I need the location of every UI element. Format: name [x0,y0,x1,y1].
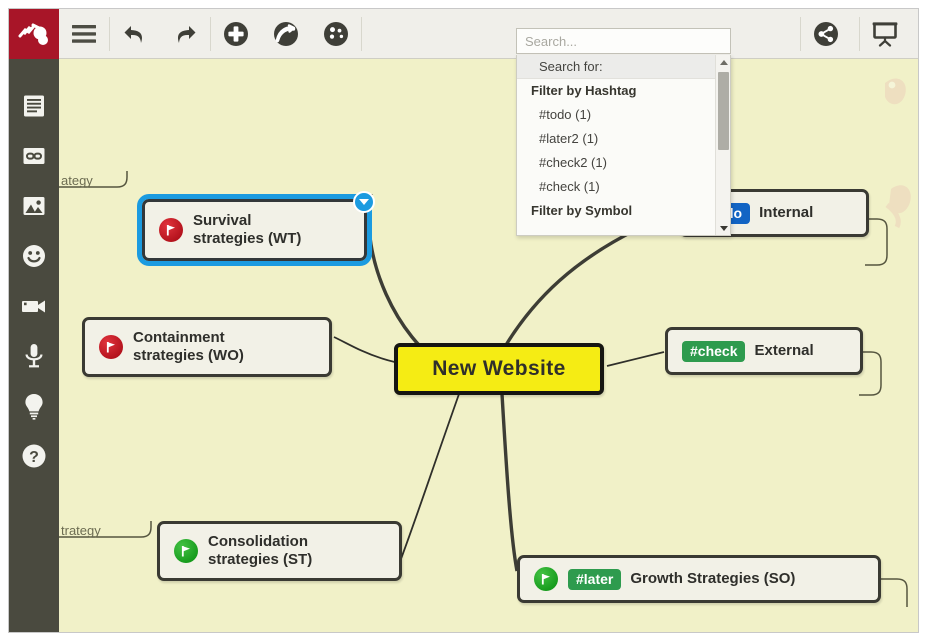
center-node-label: New Website [432,356,566,382]
collapse-toggle[interactable] [353,191,375,213]
green-flag-icon [534,567,558,591]
node-consolidation[interactable]: Consolidationstrategies (ST) [157,521,402,581]
scrollbar-thumb[interactable] [718,72,729,150]
search-dropdown: Search for: Filter by Hashtag #todo (1) … [516,55,731,236]
sidebar-item-link[interactable] [9,131,59,181]
palette-icon [323,21,349,47]
dropdown-scrollbar[interactable] [715,55,730,236]
green-flag-icon [174,539,198,563]
app-root: ? ategy trategy [0,0,927,641]
application-frame: ? ategy trategy [8,8,919,633]
node-internal-label: Internal [759,204,813,222]
palette-button[interactable] [311,9,361,59]
node-containment-label: Containmentstrategies (WO) [133,329,244,366]
svg-text:trategy: trategy [61,523,101,538]
node-external[interactable]: #check External [665,327,863,375]
node-survival[interactable]: Survivalstrategies (WT) [142,199,367,261]
dropdown-item-check2[interactable]: #check2 (1) [517,151,717,175]
hashtag-badge-check[interactable]: #check [682,341,745,362]
red-flag-icon [99,335,123,359]
mindmap-logo-icon [17,19,51,49]
menu-button[interactable] [59,9,109,59]
node-consolidation-label: Consolidationstrategies (ST) [208,533,312,570]
microphone-icon [22,342,46,370]
help-icon: ? [21,443,47,469]
top-toolbar [9,9,919,59]
svg-text:?: ? [29,449,39,466]
redo-button[interactable] [160,9,210,59]
undo-icon [122,22,148,46]
node-containment[interactable]: Containmentstrategies (WO) [82,317,332,377]
presentation-button[interactable] [860,9,910,59]
left-sidebar: ? [9,59,59,633]
toolbar-divider-3 [361,17,362,51]
undo-button[interactable] [110,9,160,59]
svg-text:ategy: ategy [61,173,93,188]
scroll-up-arrow[interactable] [716,55,731,70]
hamburger-icon [72,25,96,43]
dropdown-item-later2[interactable]: #later2 (1) [517,127,717,151]
share-button[interactable] [801,9,851,59]
dropdown-group-symbol: Filter by Symbol [517,199,717,223]
sidebar-item-notes[interactable] [9,81,59,131]
redo-icon [172,22,198,46]
sidebar-item-image[interactable] [9,181,59,231]
sidebar-item-help[interactable]: ? [9,431,59,481]
dropdown-group-hashtag: Filter by Hashtag [517,79,717,103]
node-growth-label: Growth Strategies (SO) [630,570,795,588]
dropdown-list: Search for: Filter by Hashtag #todo (1) … [517,55,717,236]
sidebar-item-emoji[interactable] [9,231,59,281]
sidebar-item-microphone[interactable] [9,331,59,381]
sidebar-item-lightbulb[interactable] [9,381,59,431]
lightbulb-icon [22,392,46,420]
center-node[interactable]: New Website [394,343,604,395]
dropdown-header: Search for: [517,55,717,79]
presentation-icon [871,21,899,47]
mindmap-canvas[interactable]: ategy trategy New Website Survivalstrate… [59,59,919,633]
red-flag-icon [159,218,183,242]
node-survival-label: Survivalstrategies (WT) [193,212,301,249]
emoji-icon [21,243,47,269]
relationship-button[interactable] [261,9,311,59]
node-external-label: External [754,342,813,360]
app-logo[interactable] [9,9,59,59]
dropdown-item-check[interactable]: #check (1) [517,175,717,199]
node-growth[interactable]: #later Growth Strategies (SO) [517,555,881,603]
dropdown-item-todo[interactable]: #todo (1) [517,103,717,127]
add-node-button[interactable] [211,9,261,59]
search-area: Search for: Filter by Hashtag #todo (1) … [516,28,731,54]
decorative-shapes [885,79,911,227]
scroll-down-arrow[interactable] [716,221,731,236]
relationship-arrow-icon [273,21,299,47]
notes-icon [21,93,47,119]
hashtag-badge-later[interactable]: #later [568,569,621,590]
sidebar-item-video[interactable] [9,281,59,331]
plus-circle-icon [223,21,249,47]
link-icon [21,143,47,169]
image-icon [21,193,47,219]
share-icon [813,21,839,47]
video-icon [20,293,48,319]
search-input[interactable] [516,28,731,54]
